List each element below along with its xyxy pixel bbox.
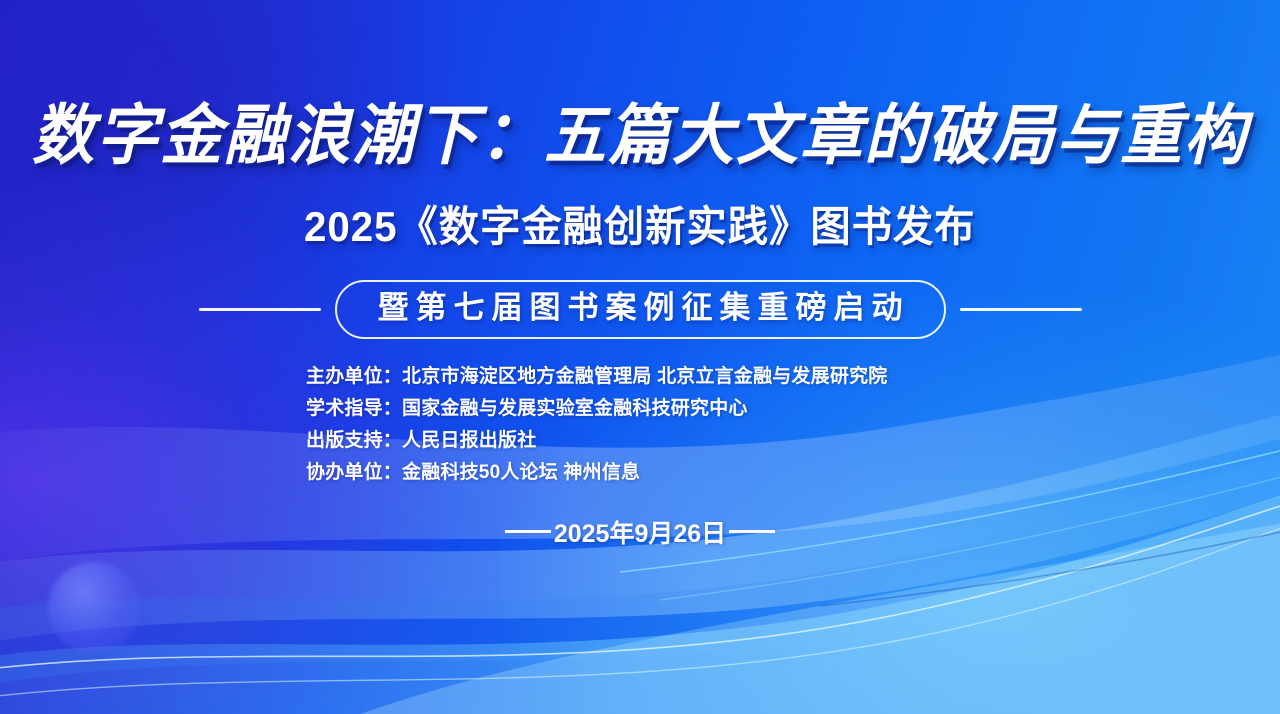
date-rule-left [505,530,551,533]
rule-right [960,308,1082,311]
organizer-row-publisher: 出版支持：人民日报出版社 [306,425,990,452]
organizer-row-coorganizer: 协办单位：金融科技50人论坛 神州信息 [306,457,990,484]
poster-canvas: 数字金融浪潮下：五篇大文章的破局与重构 2025《数字金融创新实践》图书发布 暨… [0,0,1280,714]
pill-banner-row: 暨第七届图书案例征集重磅启动 [130,280,1150,339]
page-title: 数字金融浪潮下：五篇大文章的破局与重构 [32,102,1248,173]
poster-subtitle: 2025《数字金融创新实践》图书发布 [304,193,975,254]
organizer-list: 主办单位：北京市海淀区地方金融管理局 北京立言金融与发展研究院 学术指导：国家金… [290,361,990,484]
rule-left [199,308,321,311]
event-date-row: 2025年9月26日 [505,514,775,550]
date-rule-right [729,530,775,533]
event-date: 2025年9月26日 [551,514,729,550]
organizer-row-host: 主办单位：北京市海淀区地方金融管理局 北京立言金融与发展研究院 [306,361,990,388]
organizer-row-academic: 学术指导：国家金融与发展实验室金融科技研究中心 [306,393,990,420]
launch-pill-badge: 暨第七届图书案例征集重磅启动 [335,280,946,339]
poster-content: 数字金融浪潮下：五篇大文章的破局与重构 2025《数字金融创新实践》图书发布 暨… [0,0,1280,714]
